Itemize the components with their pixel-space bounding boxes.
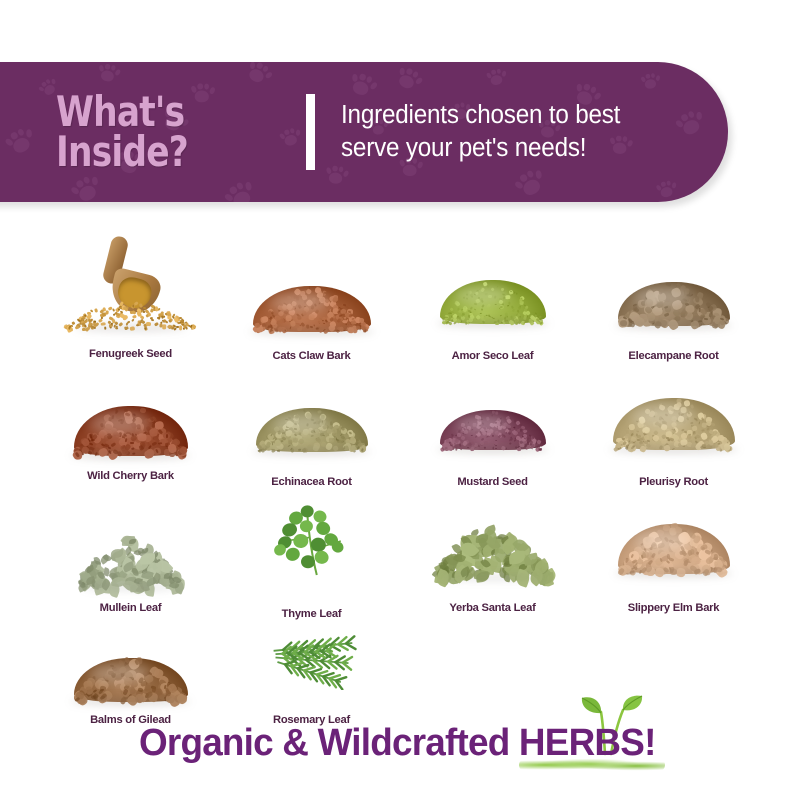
ingredient-item[interactable]: Yerba Santa Leaf xyxy=(402,504,583,614)
ingredient-item[interactable]: Mullein Leaf xyxy=(40,504,221,614)
ingredient-item[interactable]: Rosemary Leaf xyxy=(221,630,402,726)
ingredient-row: Fenugreek SeedCats Claw BarkAmor Seco Le… xyxy=(40,232,766,362)
ingredient-item[interactable]: Echinacea Root xyxy=(221,378,402,488)
ingredient-grid: Fenugreek SeedCats Claw BarkAmor Seco Le… xyxy=(40,232,766,726)
ingredient-label: Thyme Leaf xyxy=(282,608,342,620)
ingredient-item[interactable]: Elecampane Root xyxy=(583,232,764,362)
paw-print-icon xyxy=(655,178,680,201)
header-banner: What's Inside? Ingredients chosen to bes… xyxy=(0,62,728,202)
ingredient-row: Mullein LeafThyme LeafYerba Santa LeafSl… xyxy=(40,504,766,614)
ingredient-label: Amor Seco Leaf xyxy=(452,350,534,362)
paw-print-icon xyxy=(242,62,276,90)
ingredient-item[interactable]: Thyme Leaf xyxy=(221,504,402,614)
banner-tagline: Ingredients chosen to best serve your pe… xyxy=(341,99,620,164)
ingredient-item[interactable]: Pleurisy Root xyxy=(583,378,764,488)
paw-print-icon xyxy=(220,176,261,202)
ingredient-label: Yerba Santa Leaf xyxy=(449,602,535,614)
ingredient-image xyxy=(237,378,387,452)
ingredient-label: Mustard Seed xyxy=(457,476,527,488)
ingredient-image xyxy=(599,504,749,574)
banner-content: What's Inside? Ingredients chosen to bes… xyxy=(0,92,728,173)
ingredient-row: Wild Cherry BarkEchinacea RootMustard Se… xyxy=(40,378,766,488)
ingredient-label: Slippery Elm Bark xyxy=(628,602,720,614)
paw-print-icon xyxy=(640,71,663,91)
brush-underline xyxy=(519,759,665,771)
ingredient-image xyxy=(56,232,206,332)
ingredient-label: Pleurisy Root xyxy=(639,476,708,488)
footer: Organic & Wildcrafted HERBS! xyxy=(0,724,800,762)
ingredient-image xyxy=(418,504,568,578)
ingredient-item[interactable]: Cats Claw Bark xyxy=(221,232,402,362)
ingredient-image xyxy=(599,378,749,450)
ingredient-image xyxy=(56,630,206,702)
ingredient-item[interactable]: Slippery Elm Bark xyxy=(583,504,764,614)
ingredient-item[interactable]: Mustard Seed xyxy=(402,378,583,488)
ingredient-image xyxy=(418,378,568,450)
ingredient-label: Wild Cherry Bark xyxy=(87,470,174,482)
ingredient-image xyxy=(418,232,568,324)
ingredient-label: Mullein Leaf xyxy=(100,602,162,614)
paw-print-icon xyxy=(96,62,123,86)
ingredient-image xyxy=(56,504,206,588)
paw-print-icon xyxy=(485,67,509,89)
ingredient-item[interactable]: Balms of Gilead xyxy=(40,630,221,726)
ingredient-image xyxy=(56,378,206,456)
ingredient-label: Cats Claw Bark xyxy=(273,350,351,362)
ingredient-image xyxy=(237,232,387,332)
ingredient-item[interactable]: Amor Seco Leaf xyxy=(402,232,583,362)
banner-heading: What's Inside? xyxy=(56,92,261,173)
ingredient-image xyxy=(237,504,387,578)
ingredient-label: Fenugreek Seed xyxy=(89,348,172,360)
ingredient-label: Elecampane Root xyxy=(628,350,718,362)
ingredient-row: Balms of GileadRosemary Leaf xyxy=(40,630,766,726)
ingredient-item[interactable]: Wild Cherry Bark xyxy=(40,378,221,488)
banner-divider xyxy=(306,94,315,170)
ingredient-image xyxy=(599,232,749,326)
footer-headline: Organic & Wildcrafted HERBS! xyxy=(139,724,656,762)
ingredient-label: Echinacea Root xyxy=(271,476,351,488)
ingredient-item[interactable]: Fenugreek Seed xyxy=(40,232,221,362)
ingredient-image xyxy=(237,630,387,690)
